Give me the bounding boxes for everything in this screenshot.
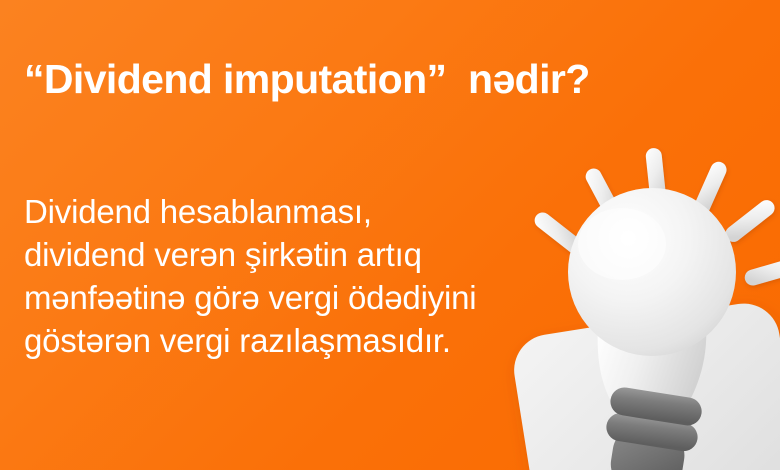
body-copy-line: mənfəətinə görə vergi ödədiyini xyxy=(24,276,564,319)
lightbulb-glass-highlight xyxy=(578,208,666,280)
light-ray xyxy=(691,159,729,218)
light-ray xyxy=(722,197,778,245)
light-ray xyxy=(743,257,780,288)
body-copy-line: göstərən vergi razılaşmasıdır. xyxy=(24,319,564,362)
lightbulb-screw-ring-upper xyxy=(608,385,703,427)
body-copy-line: dividend verən şirkətin artıq xyxy=(24,233,564,276)
promo-card: “Dividend imputation” nədir? Dividend he… xyxy=(0,0,780,470)
lightbulb-base xyxy=(597,385,704,470)
body-copy: Dividend hesablanması, dividend verən şi… xyxy=(24,190,564,362)
lightbulb-contact-cap xyxy=(607,423,688,470)
lightbulb-neck xyxy=(598,322,707,418)
light-ray xyxy=(645,147,667,206)
light-ray xyxy=(583,166,625,226)
headline: “Dividend imputation” nədir? xyxy=(24,54,744,104)
lightbulb-screw-ring-lower xyxy=(604,411,699,453)
lightbulb-glass xyxy=(568,188,736,356)
lightbulb-body xyxy=(568,188,736,418)
body-copy-line: Dividend hesablanması, xyxy=(24,190,564,233)
light-rays xyxy=(531,147,780,287)
